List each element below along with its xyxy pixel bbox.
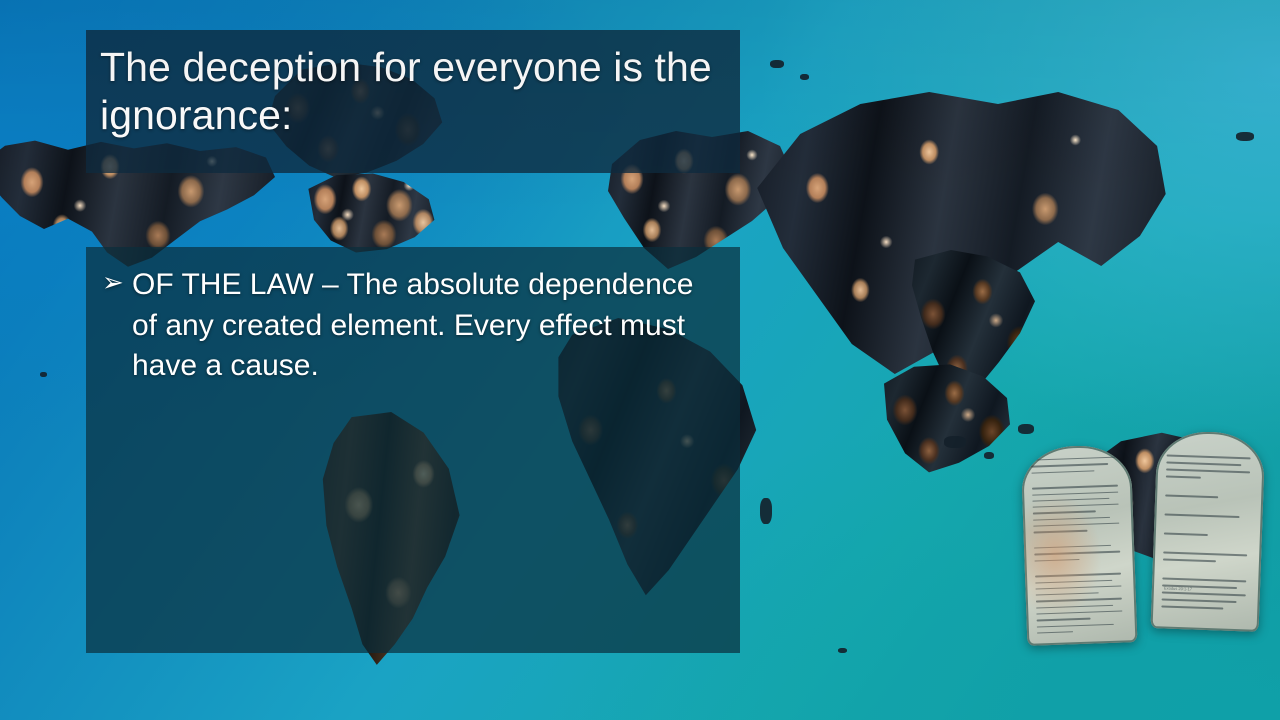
map-island-speck (1236, 132, 1254, 141)
map-island-speck (800, 74, 809, 80)
slide-body-box: ➢ OF THE LAW – The absolute dependence o… (86, 247, 740, 653)
tablet-photo-tint (1021, 444, 1138, 646)
continent-central-america (300, 170, 440, 256)
tablet-text-lines (1161, 443, 1255, 620)
map-island-speck (770, 60, 784, 68)
stone-tablet-left (1021, 444, 1138, 646)
stone-tablets: Exodus 20:1-17 (1014, 432, 1264, 648)
map-island-speck (40, 372, 47, 377)
map-island-speck (944, 436, 966, 448)
presentation-slide: Exodus 20:1-17 The deception for everyon… (0, 0, 1280, 720)
page-title: The deception for everyone is the ignora… (100, 44, 718, 140)
map-island-speck (984, 452, 994, 459)
list-item-text: OF THE LAW – The absolute dependence of … (132, 268, 693, 382)
map-island-speck (760, 498, 772, 524)
tablet-caption: Exodus 20:1-17 (1164, 586, 1192, 592)
bullet-list: ➢ OF THE LAW – The absolute dependence o… (102, 265, 720, 387)
continent-southeast-asia (872, 362, 1022, 482)
arrow-bullet-icon: ➢ (102, 264, 124, 302)
map-island-speck (838, 648, 847, 653)
slide-title-box: The deception for everyone is the ignora… (86, 30, 740, 173)
list-item: ➢ OF THE LAW – The absolute dependence o… (102, 265, 720, 387)
stone-tablet-right: Exodus 20:1-17 (1151, 430, 1266, 632)
